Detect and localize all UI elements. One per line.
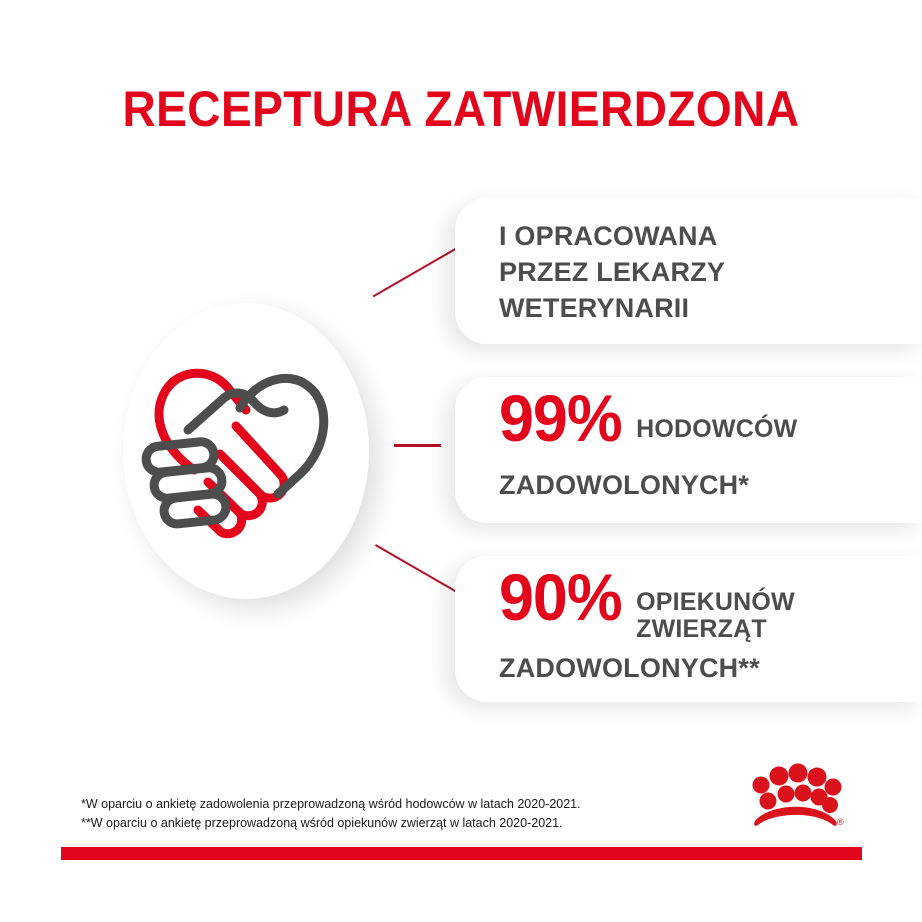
owners-word-2: ZWIERZĄT: [636, 616, 795, 643]
owners-bottom-line: ZADOWOLONYCH**: [499, 652, 760, 684]
owners-word-1: OPIEKUNÓW: [636, 589, 795, 616]
owners-stat-row: 90% OPIEKUNÓW ZWIERZĄT: [499, 564, 795, 653]
card-breeders-stat: 99% HODOWCÓW ZADOWOLONYCH*: [455, 377, 922, 523]
bottom-red-bar: [61, 847, 862, 860]
card-vets: I OPRACOWANA PRZEZ LEKARZY WETERYNARII: [455, 198, 922, 344]
handshake-heart-icon: [128, 352, 358, 552]
vets-line-1: I OPRACOWANA: [499, 218, 725, 254]
connector-line-middle: [394, 444, 441, 447]
vets-line-2: PRZEZ LEKARZY: [499, 254, 725, 290]
vets-text-block: I OPRACOWANA PRZEZ LEKARZY WETERYNARII: [499, 218, 725, 326]
breeders-stat-row: 99% HODOWCÓW: [499, 385, 797, 451]
breeders-word-1: HODOWCÓW: [636, 416, 797, 443]
vets-line-3: WETERYNARII: [499, 290, 725, 326]
footnote-2: **W oparciu o ankietę przeprowadzoną wśr…: [81, 814, 581, 833]
registered-mark: ®: [837, 817, 844, 827]
breeders-words: HODOWCÓW: [636, 416, 797, 443]
owners-words: OPIEKUNÓW ZWIERZĄT: [636, 589, 795, 643]
footnote-1: *W oparciu o ankietę zadowolenia przepro…: [81, 795, 581, 814]
breeders-percent: 99%: [499, 385, 622, 451]
owners-percent: 90%: [499, 564, 622, 630]
card-owners-stat: 90% OPIEKUNÓW ZWIERZĄT ZADOWOLONYCH**: [455, 556, 922, 702]
breeders-bottom-line: ZADOWOLONYCH*: [499, 469, 749, 501]
page-title: RECEPTURA ZATWIERDZONA: [37, 80, 885, 138]
footnotes-block: *W oparciu o ankietę zadowolenia przepro…: [81, 795, 581, 833]
royal-canin-crown-logo: ®: [746, 763, 844, 837]
connector-line-top: [373, 243, 465, 297]
infographic-page: RECEPTURA ZATWIERDZONA I OPRACOWANA PRZE…: [0, 0, 922, 922]
